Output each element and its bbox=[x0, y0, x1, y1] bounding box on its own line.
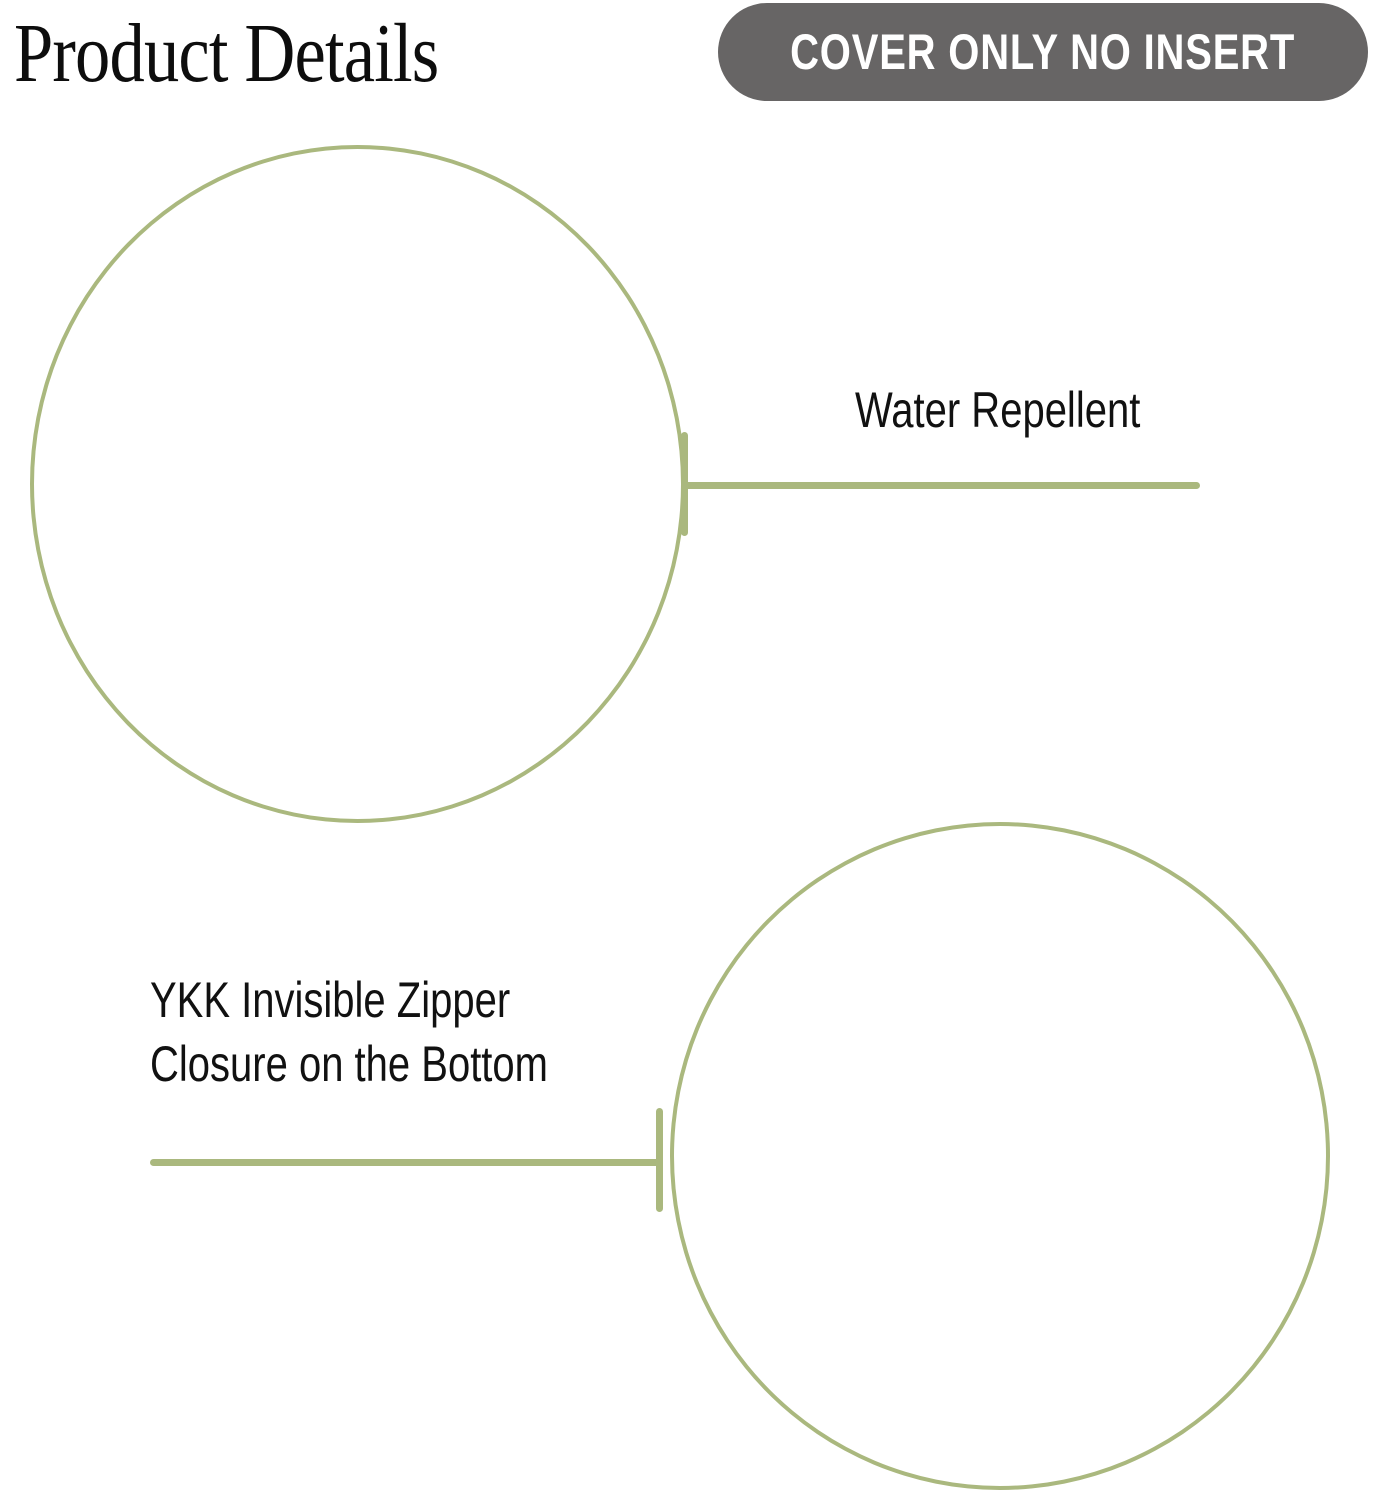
cover-only-badge: COVER ONLY NO INSERT bbox=[718, 3, 1368, 101]
zipper-closure-circle-frame bbox=[670, 822, 1330, 1490]
cover-only-badge-label: COVER ONLY NO INSERT bbox=[790, 27, 1295, 77]
product-details-infographic: Product Details COVER ONLY NO INSERT Wat… bbox=[0, 0, 1385, 1500]
zipper-connector-line bbox=[150, 1159, 662, 1166]
water-repellent-label: Water Repellent bbox=[855, 378, 1140, 442]
zipper-label-line-2: Closure on the Bottom bbox=[150, 1032, 548, 1096]
water-repellent-connector-line bbox=[683, 482, 1200, 489]
water-repellent-circle-frame bbox=[30, 145, 685, 823]
zipper-label: YKK Invisible Zipper Closure on the Bott… bbox=[150, 968, 548, 1096]
zipper-label-line-1: YKK Invisible Zipper bbox=[150, 968, 548, 1032]
page-title: Product Details bbox=[14, 8, 438, 100]
